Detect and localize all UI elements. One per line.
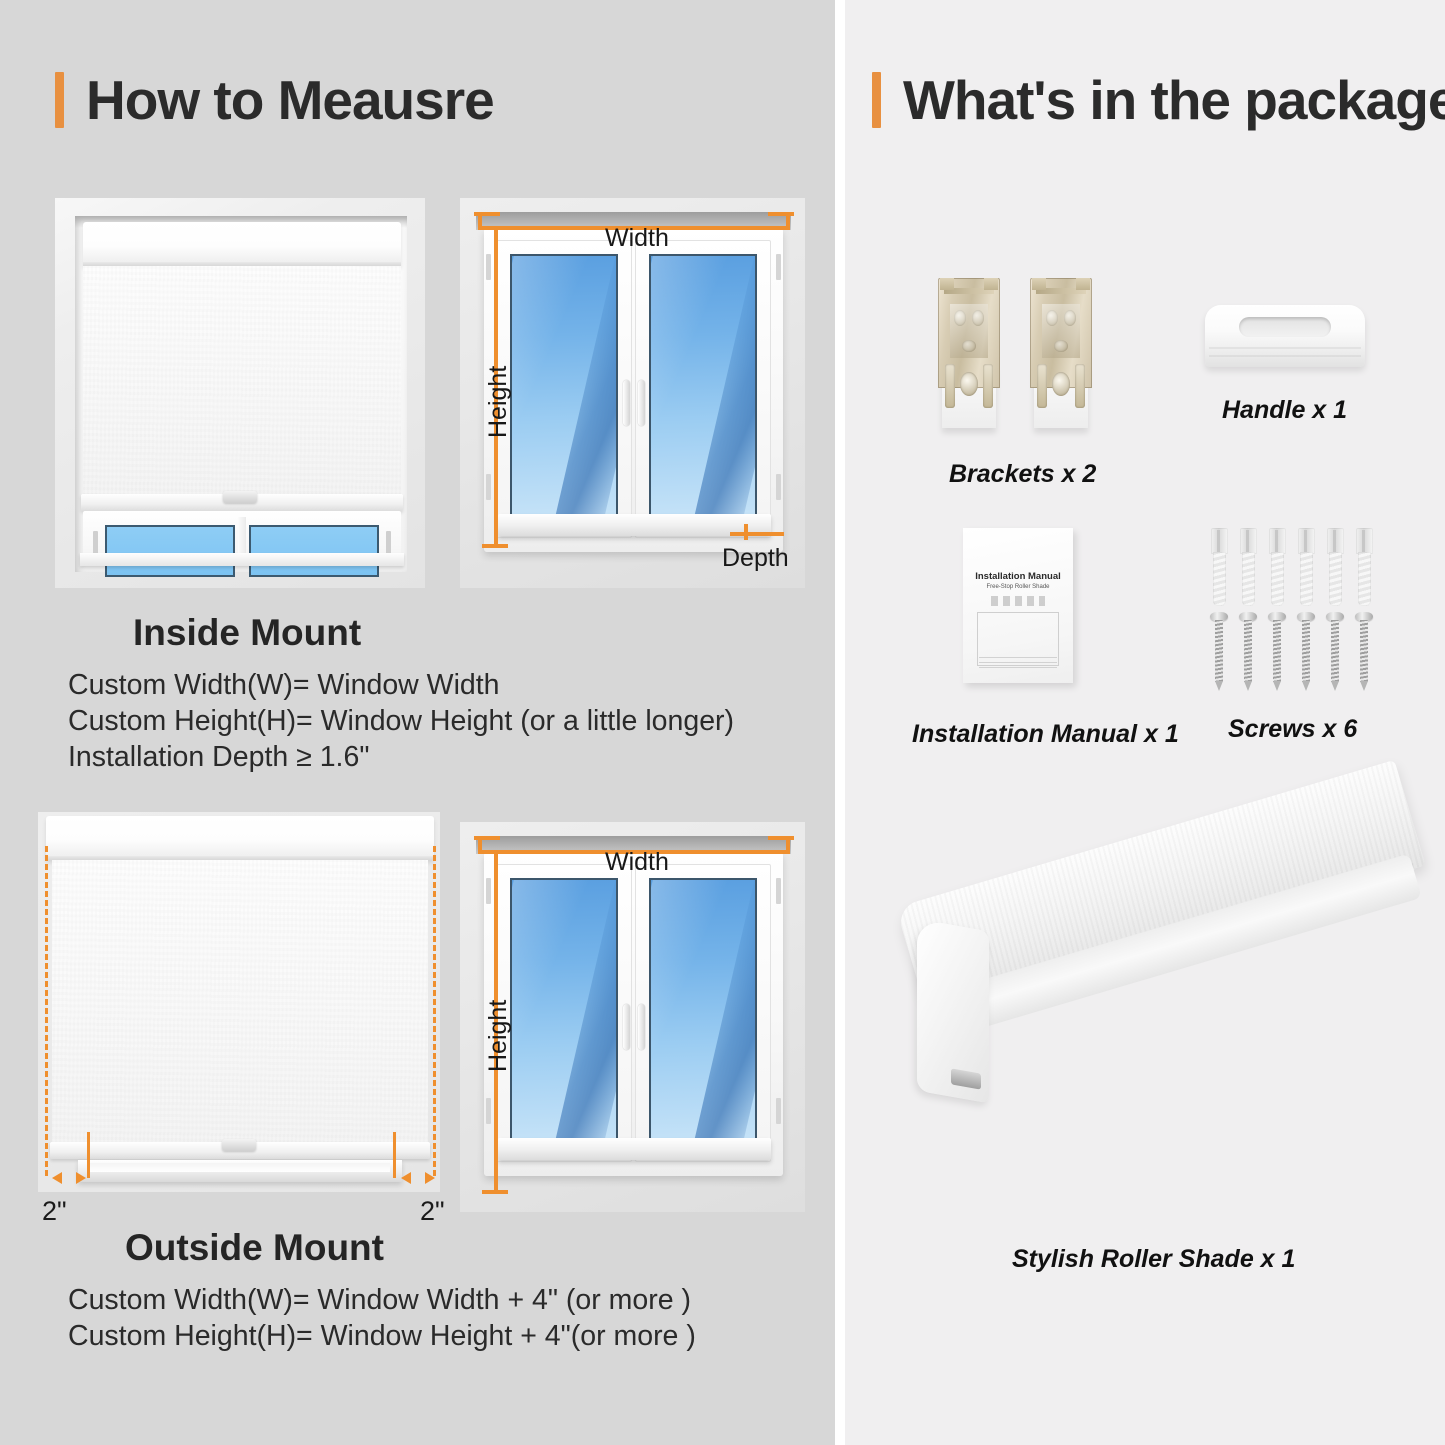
handle-slot <box>1239 317 1331 337</box>
screw-icon <box>1210 612 1228 690</box>
how-to-measure-heading: How to Meausre <box>55 72 494 128</box>
height-label: Height <box>484 1000 513 1072</box>
screw-icon <box>1326 612 1344 690</box>
manual-cover-scribble <box>991 596 1045 606</box>
overhang-tick-right <box>393 1132 396 1178</box>
window-frame <box>484 852 783 1176</box>
window-sill-highlight <box>90 1163 390 1172</box>
width-measure-cap-right <box>768 212 794 216</box>
roller-shade-icon <box>905 885 1435 1215</box>
overhang-arrow-right-in <box>401 1172 411 1184</box>
shade-headrail <box>46 816 434 860</box>
screw-icon <box>1268 612 1286 690</box>
window-glass-right <box>649 254 757 524</box>
accent-bar-icon <box>872 72 881 128</box>
manual-cover-footer <box>979 657 1057 671</box>
manual-cover-title: Installation Manual <box>963 571 1073 582</box>
wall-anchor-icon <box>1298 528 1315 606</box>
inside-mount-line-1: Custom Width(W)= Window Width <box>68 669 500 702</box>
window-hinge-bottom-right <box>776 1098 781 1124</box>
handle-ridge-1 <box>1209 347 1361 349</box>
bracket-slot-right <box>983 364 993 408</box>
wall-anchor-icon <box>1211 528 1228 606</box>
window-sash-right <box>635 240 771 538</box>
window-pane-left <box>105 525 235 577</box>
bracket-ear-right <box>984 278 998 290</box>
screws-label: Screws x 6 <box>1228 715 1357 744</box>
overhang-arrow-left-in <box>52 1172 62 1184</box>
depth-label: Depth <box>722 544 789 573</box>
window-hinge-top-left <box>486 254 491 280</box>
width-measure-cap-left <box>474 836 500 840</box>
window-mullion <box>238 517 246 558</box>
outside-mount-line-1: Custom Width(W)= Window Width + 4" (or m… <box>68 1284 691 1317</box>
height-label: Height <box>484 366 513 438</box>
window-pane-right <box>249 525 379 577</box>
window-glass-left <box>510 254 618 524</box>
window-hinge-top-right <box>776 254 781 280</box>
bracket-hole-c <box>962 340 976 352</box>
depth-measure-tick <box>744 524 748 540</box>
window-hinge-top-left <box>486 878 491 904</box>
bracket-slot-right <box>1075 364 1085 408</box>
width-measure-cap-left <box>474 212 500 216</box>
outside-mount-title: Outside Mount <box>125 1227 384 1269</box>
overhang-guide-right <box>433 846 436 1176</box>
bracket-ear-left <box>1032 278 1046 290</box>
inside-mount-line-2: Custom Height(H)= Window Height (or a li… <box>68 705 734 738</box>
bracket-hole-b <box>972 310 984 326</box>
overhang-tick-left <box>87 1132 90 1178</box>
window-hinge-bottom-left <box>486 1098 491 1124</box>
height-measure-cap-top <box>482 226 508 230</box>
window-handles-icon <box>621 1004 647 1056</box>
bracket-slot-left <box>945 364 955 408</box>
wall-anchor-icon <box>1327 528 1344 606</box>
height-measure-cap-bottom <box>482 1190 508 1194</box>
bracket-hole-b <box>1064 310 1076 326</box>
handle-icon <box>1205 305 1365 367</box>
window-sash-left <box>496 864 632 1162</box>
inside-mount-shade-illustration <box>55 198 425 588</box>
panel-divider <box>835 0 845 1445</box>
wall-anchor-icon <box>1269 528 1286 606</box>
width-measure-cap-right <box>768 836 794 840</box>
bracket-center-hole <box>960 372 978 396</box>
bracket-hole-c <box>1054 340 1068 352</box>
shade-fabric <box>52 860 428 1145</box>
window-sash-left <box>496 240 632 538</box>
handle-label: Handle x 1 <box>1222 396 1347 425</box>
depth-measure-line <box>730 532 784 536</box>
bracket-hole-a <box>954 310 966 326</box>
manual-label: Installation Manual x 1 <box>912 720 1179 749</box>
bracket-ear-left <box>940 278 954 290</box>
bracket-ear-right <box>1076 278 1090 290</box>
outside-mount-shade-illustration <box>38 812 440 1192</box>
roller-shade-body <box>905 885 1435 1215</box>
bracket-icon <box>1030 278 1092 428</box>
overhang-label-right: 2" <box>420 1196 445 1227</box>
package-heading: What's in the package <box>872 72 1445 128</box>
window-hinge-bottom-right <box>776 474 781 500</box>
height-measure-cap-top <box>482 850 508 854</box>
width-label: Width <box>605 848 669 877</box>
width-label: Width <box>605 224 669 253</box>
accent-bar-icon <box>55 72 64 128</box>
shade-pull-handle <box>222 1139 256 1151</box>
overhang-arrow-left-out <box>76 1172 86 1184</box>
window-dimension-diagram-inside: Width Height Depth <box>460 198 805 588</box>
window-sash-right <box>635 864 771 1162</box>
window-glass-left <box>510 878 618 1148</box>
bracket-hole-a <box>1046 310 1058 326</box>
window-glass-right <box>649 878 757 1148</box>
height-measure-cap-bottom <box>482 544 508 548</box>
manual-cover-subtitle: Free-Stop Roller Shade <box>963 584 1073 590</box>
overhang-label-left: 2" <box>42 1196 67 1227</box>
handle-ridge-2 <box>1209 355 1361 357</box>
inside-mount-title: Inside Mount <box>133 612 361 654</box>
window-hinge-bottom-left <box>486 474 491 500</box>
how-to-measure-heading-text: How to Meausre <box>86 73 494 128</box>
window-hinge-top-right <box>776 878 781 904</box>
bracket-slot-left <box>1037 364 1047 408</box>
roller-shade-label: Stylish Roller Shade x 1 <box>1012 1245 1295 1274</box>
wall-anchor-icon <box>1240 528 1257 606</box>
infographic-page: How to Meausre What's in the package <box>0 0 1445 1445</box>
window-dimension-diagram-outside: Width Height <box>460 822 805 1212</box>
window-sill <box>80 553 404 566</box>
window-below-shade <box>83 511 401 566</box>
screw-icon <box>1355 612 1373 690</box>
screw-icon <box>1297 612 1315 690</box>
window-handles-icon <box>621 380 647 432</box>
inside-mount-line-3: Installation Depth ≥ 1.6" <box>68 741 369 774</box>
window-frame <box>484 228 783 552</box>
wall-anchor-icon <box>1356 528 1373 606</box>
overhang-guide-left <box>45 846 48 1176</box>
outside-mount-line-2: Custom Height(H)= Window Height + 4"(or … <box>68 1320 696 1353</box>
bracket-center-hole <box>1052 372 1070 396</box>
bracket-icon <box>938 278 1000 428</box>
shade-headrail <box>83 222 401 266</box>
package-heading-text: What's in the package <box>903 73 1445 128</box>
brackets-label: Brackets x 2 <box>949 460 1096 489</box>
overhang-arrow-right-out <box>425 1172 435 1184</box>
shade-pull-handle <box>223 491 257 503</box>
manual-icon: Installation Manual Free-Stop Roller Sha… <box>963 528 1073 683</box>
shade-fabric <box>83 266 401 496</box>
window-sill <box>498 1138 771 1160</box>
screw-icon <box>1239 612 1257 690</box>
